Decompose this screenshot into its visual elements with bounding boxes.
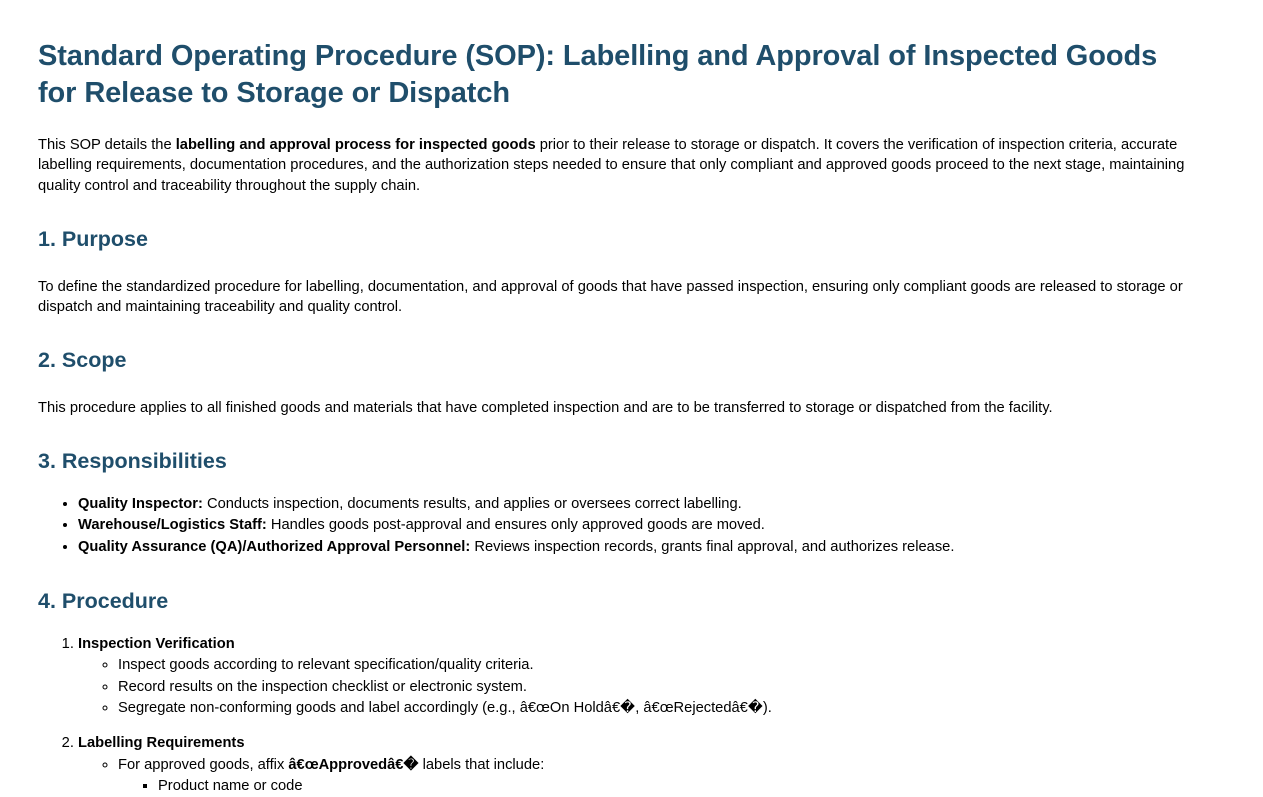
section-heading-procedure: 4. Procedure [38, 588, 1223, 616]
document-page: Standard Operating Procedure (SOP): Labe… [0, 0, 1263, 797]
list-item: Quality Inspector: Conducts inspection, … [78, 494, 1223, 515]
responsibility-role-label: Warehouse/Logistics Staff: [78, 517, 267, 533]
intro-emphasis: labelling and approval process for inspe… [176, 137, 536, 153]
list-item: Quality Assurance (QA)/Authorized Approv… [78, 537, 1223, 558]
responsibility-role-label: Quality Assurance (QA)/Authorized Approv… [78, 539, 470, 555]
section-heading-purpose: 1. Purpose [38, 226, 1223, 254]
procedure-step-label: Labelling Requirements [78, 735, 245, 751]
label-contents-list: Product name or code [118, 776, 1223, 797]
section-heading-scope: 2. Scope [38, 347, 1223, 375]
responsibility-role-text: Reviews inspection records, grants final… [470, 539, 954, 555]
list-item: Product name or code [158, 776, 1223, 797]
list-item: Inspection Verification Inspect goods ac… [78, 634, 1223, 719]
page-title: Standard Operating Procedure (SOP): Labe… [38, 38, 1198, 112]
substep-suffix: labels that include: [419, 757, 545, 773]
procedure-step-label: Inspection Verification [78, 636, 235, 652]
responsibilities-list: Quality Inspector: Conducts inspection, … [38, 494, 1223, 558]
procedure-substep-list: For approved goods, affix â€œApprovedâ€�… [78, 755, 1223, 797]
responsibility-role-label: Quality Inspector: [78, 496, 203, 512]
list-item: Inspect goods according to relevant spec… [118, 655, 1223, 676]
list-item: Warehouse/Logistics Staff: Handles goods… [78, 515, 1223, 536]
procedure-substep-list: Inspect goods according to relevant spec… [78, 655, 1223, 719]
substep-bold-term: â€œApprovedâ€� [288, 757, 418, 773]
scope-paragraph: This procedure applies to all finished g… [38, 398, 1223, 418]
list-item: Labelling Requirements For approved good… [78, 733, 1223, 797]
list-item: For approved goods, affix â€œApprovedâ€�… [118, 755, 1223, 797]
responsibility-role-text: Conducts inspection, documents results, … [203, 496, 742, 512]
purpose-paragraph: To define the standardized procedure for… [38, 277, 1223, 317]
list-item: Segregate non-conforming goods and label… [118, 698, 1223, 719]
substep-prefix: For approved goods, affix [118, 757, 288, 773]
list-item: Record results on the inspection checkli… [118, 677, 1223, 698]
responsibility-role-text: Handles goods post-approval and ensures … [267, 517, 765, 533]
intro-paragraph: This SOP details the labelling and appro… [38, 135, 1223, 195]
section-heading-responsibilities: 3. Responsibilities [38, 448, 1223, 476]
procedure-list: Inspection Verification Inspect goods ac… [38, 634, 1223, 797]
intro-text-part1: This SOP details the [38, 137, 176, 153]
